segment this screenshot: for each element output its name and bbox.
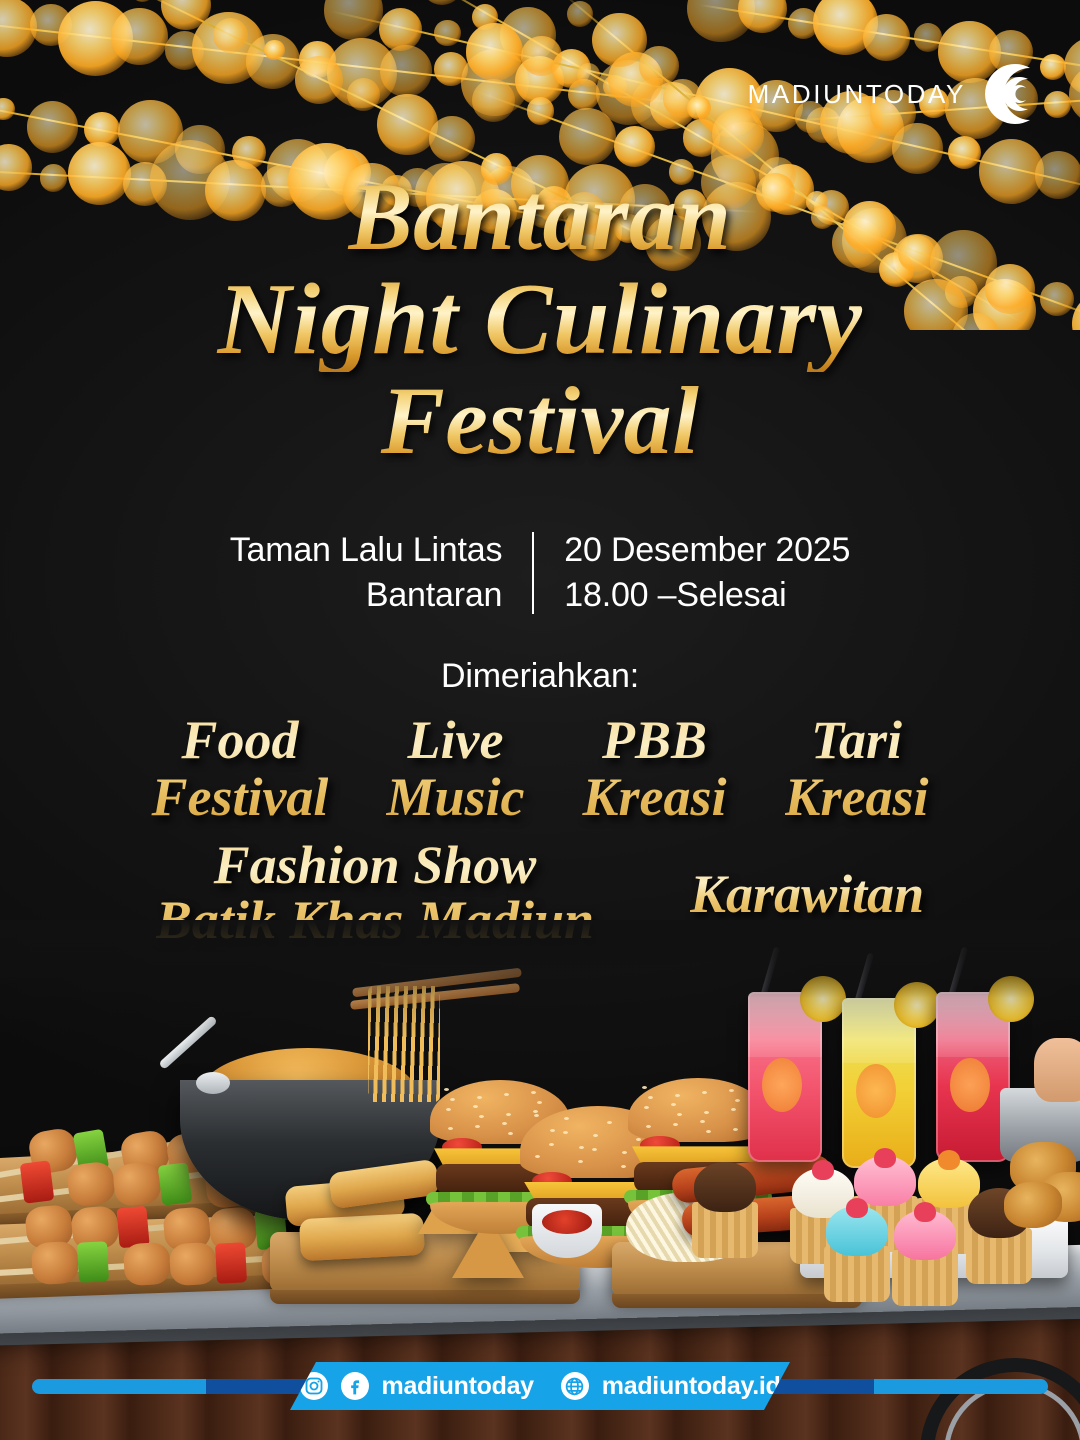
bell-pepper-red — [116, 1206, 149, 1248]
light-bulb — [0, 98, 15, 120]
title-line-1: Bantaran — [0, 168, 1080, 267]
sesame-seed — [473, 1105, 478, 1108]
brand-logo-text: MADIUNTODAY — [748, 79, 966, 110]
sesame-seed — [729, 1089, 734, 1092]
footer-bar: madiuntoday madiuntoday.id — [0, 1362, 1080, 1410]
sesame-seed — [579, 1146, 584, 1149]
sesame-seed — [673, 1123, 678, 1126]
light-bulb — [379, 8, 422, 51]
light-bulb — [131, 0, 154, 2]
light-bulb — [421, 0, 463, 5]
title-line-2: Night Culinary — [0, 267, 1080, 372]
light-bulb — [559, 108, 616, 165]
sesame-seed — [550, 1129, 555, 1132]
burger-bun-top — [628, 1078, 768, 1142]
sesame-seed — [534, 1114, 539, 1117]
light-bulb — [639, 46, 678, 85]
berry-topping — [874, 1148, 896, 1168]
bell-pepper-green — [77, 1242, 109, 1284]
facebook-icon[interactable] — [341, 1372, 369, 1400]
sesame-seed — [671, 1103, 676, 1106]
sesame-seed — [622, 1151, 627, 1154]
globe-icon[interactable] — [561, 1372, 589, 1400]
venue-block: Taman Lalu Lintas Bantaran — [230, 528, 533, 618]
sesame-seed — [444, 1088, 449, 1091]
light-bulb — [472, 79, 515, 122]
lineup-item-live-music: Live Music — [386, 712, 524, 826]
sesame-seed — [477, 1096, 482, 1099]
lineup-item-food-festival: Food Festival — [151, 712, 328, 826]
sesame-seed — [642, 1086, 647, 1089]
light-bulb — [324, 0, 384, 40]
sesame-seed — [502, 1122, 507, 1125]
sesame-seed — [675, 1094, 680, 1097]
event-date: 20 Desember 2025 — [564, 528, 850, 573]
light-bulb — [527, 97, 554, 124]
sesame-seed — [446, 1108, 451, 1111]
venue-line-1: Taman Lalu Lintas — [230, 528, 503, 573]
light-bulb — [434, 20, 460, 46]
crescent-swoosh-mark-icon — [972, 58, 1044, 130]
datetime-block: 20 Desember 2025 18.00 –Selesai — [534, 528, 850, 618]
spoon-bowl — [196, 1072, 230, 1094]
sesame-seed — [506, 1113, 511, 1116]
sesame-seed — [563, 1131, 568, 1134]
fruit-slice-in-glass — [856, 1064, 896, 1118]
sesame-seed — [564, 1117, 569, 1120]
light-bulb — [863, 14, 910, 61]
fruit-slice-in-glass — [762, 1058, 802, 1112]
grilled-meatball — [123, 1241, 171, 1285]
light-bulb — [521, 36, 562, 77]
light-bulb — [1044, 91, 1071, 118]
sesame-seed — [733, 1128, 738, 1131]
event-info: Taman Lalu Lintas Bantaran 20 Desember 2… — [0, 528, 1080, 618]
grilled-meatball — [169, 1242, 217, 1286]
berry-topping — [938, 1150, 960, 1170]
light-bulb — [380, 45, 432, 97]
lineup-label: Dimeriahkan: — [0, 657, 1080, 696]
sesame-seed — [475, 1125, 480, 1128]
light-bulb — [27, 101, 78, 152]
sesame-seed — [593, 1134, 598, 1137]
sesame-seed — [644, 1106, 649, 1109]
cupcake-chocolate-1 — [694, 1162, 756, 1212]
spring-roll-2 — [299, 1213, 425, 1261]
bell-pepper-green — [158, 1162, 193, 1205]
title-line-3: Festival — [0, 372, 1080, 471]
lineup-item-pbb-kreasi: PBB Kreasi — [582, 712, 726, 826]
bell-pepper-red — [215, 1242, 247, 1284]
photo-top-fade — [0, 920, 1080, 1040]
berry-topping — [846, 1198, 868, 1218]
light-bulb — [948, 136, 981, 169]
light-bulb — [377, 94, 437, 154]
website-url[interactable]: madiuntoday.id — [602, 1372, 781, 1401]
light-bulb — [687, 96, 711, 120]
brand-logo: MADIUNTODAY — [748, 58, 1044, 130]
light-bulb — [592, 13, 647, 68]
sesame-seed — [704, 1111, 709, 1114]
venue-line-2: Bantaran — [230, 573, 503, 618]
lineup-item-tari-kreasi: Tari Kreasi — [785, 712, 929, 826]
berry-topping — [914, 1202, 936, 1222]
sesame-seed — [621, 1165, 626, 1168]
grilled-meatball — [31, 1241, 79, 1285]
hand-reaching — [1034, 1038, 1080, 1102]
light-bulb — [213, 18, 248, 53]
light-bulb — [567, 1, 593, 27]
sesame-seed — [531, 1091, 536, 1094]
lineup-item-karawitan: Karawitan — [690, 866, 924, 923]
lineup-row-1: Food Festival Live Music PBB Kreasi Tari… — [0, 712, 1080, 826]
light-bulb — [614, 126, 655, 167]
light-bulb — [466, 23, 523, 80]
berry-topping — [812, 1160, 834, 1180]
page-title: Bantaran Night Culinary Festival — [0, 168, 1080, 471]
light-bulb — [111, 8, 168, 65]
sesame-seed — [537, 1101, 542, 1104]
light-bulb — [429, 116, 475, 162]
social-handle[interactable]: madiuntoday — [382, 1372, 534, 1401]
light-bulb — [347, 78, 380, 111]
poster-canvas: MADIUNTODAY Bantaran Night Culinary Fest… — [0, 0, 1080, 1440]
bell-pepper-red — [20, 1160, 55, 1203]
footer-social-panel: madiuntoday madiuntoday.id — [290, 1362, 790, 1410]
sesame-seed — [700, 1120, 705, 1123]
ketchup — [542, 1210, 592, 1234]
fruit-slice-in-glass — [950, 1058, 990, 1112]
event-time: 18.00 –Selesai — [564, 573, 850, 618]
sesame-seed — [592, 1148, 597, 1151]
light-bulb — [295, 56, 343, 104]
fried-chicken-3 — [1004, 1182, 1062, 1228]
instagram-icon[interactable] — [300, 1372, 328, 1400]
sesame-seed — [735, 1099, 740, 1102]
